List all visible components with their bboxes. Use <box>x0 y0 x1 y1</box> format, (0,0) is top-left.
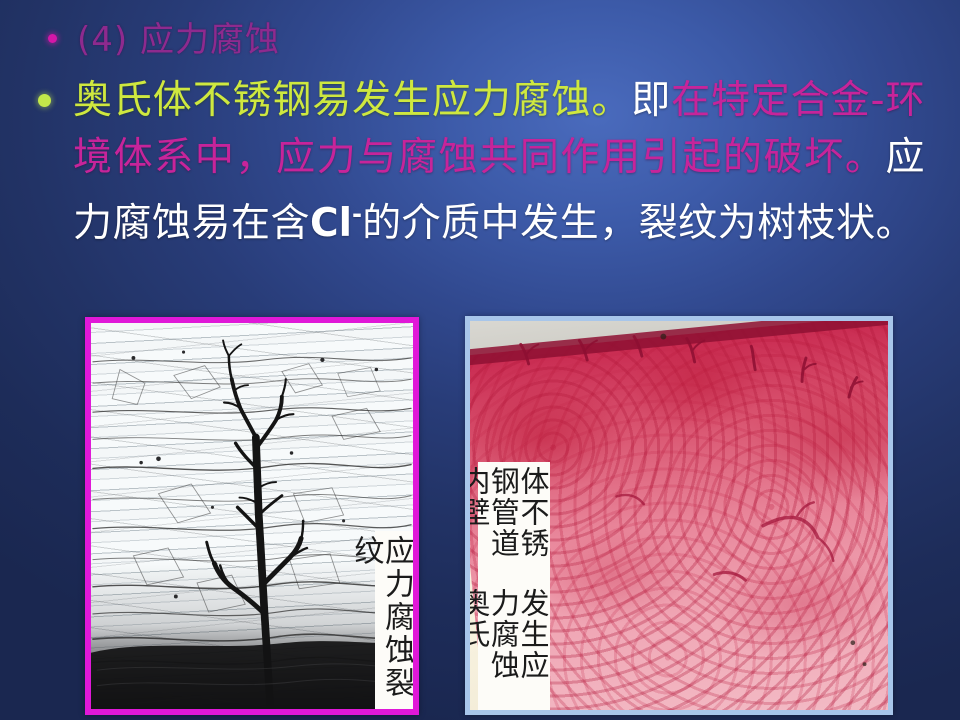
figure-right-caption-column-1: 发生应力腐蚀奥氏 <box>481 588 547 708</box>
text-content-block: (4) 应力腐蚀 奥氏体不锈钢易发生应力腐蚀。即在特定合金-环境体系中，应力与腐… <box>0 18 960 252</box>
figure-right-caption-column-2: 体不锈钢管道内壁 <box>481 466 547 586</box>
figure-left-caption: 应力腐蚀裂纹 <box>375 531 413 709</box>
bullet-dot-icon <box>48 34 57 43</box>
figure-right-caption: 发生应力腐蚀奥氏 体不锈钢管道内壁 <box>478 462 550 710</box>
chloride-ion-symbol: Cl <box>310 201 352 246</box>
page-title: (4) 应力腐蚀 <box>77 18 280 62</box>
chloride-ion-label: Cl- <box>310 201 362 246</box>
paragraph-segment-white-1: 即 <box>631 78 671 123</box>
chloride-ion-charge: - <box>352 200 362 228</box>
paragraph-segment-white-3: 的介质中发生，裂纹为树枝状。 <box>362 201 915 246</box>
slide-canvas: (4) 应力腐蚀 奥氏体不锈钢易发生应力腐蚀。即在特定合金-环境体系中，应力与腐… <box>0 0 960 720</box>
body-paragraph: 奥氏体不锈钢易发生应力腐蚀。即在特定合金-环境体系中，应力与腐蚀共同作用引起的破… <box>73 72 925 252</box>
heading-bullet-row: (4) 应力腐蚀 <box>0 18 960 62</box>
figure-stress-corrosion-crack: 应力腐蚀裂纹 <box>85 317 419 715</box>
figure-pipe-inner-wall: 发生应力腐蚀奥氏 体不锈钢管道内壁 <box>465 316 893 715</box>
paragraph-bullet-row: 奥氏体不锈钢易发生应力腐蚀。即在特定合金-环境体系中，应力与腐蚀共同作用引起的破… <box>0 72 960 252</box>
bullet-dot-icon <box>38 94 51 107</box>
paragraph-segment-green: 奥氏体不锈钢易发生应力腐蚀。 <box>73 78 631 123</box>
crack-pattern-graphic <box>91 323 413 709</box>
